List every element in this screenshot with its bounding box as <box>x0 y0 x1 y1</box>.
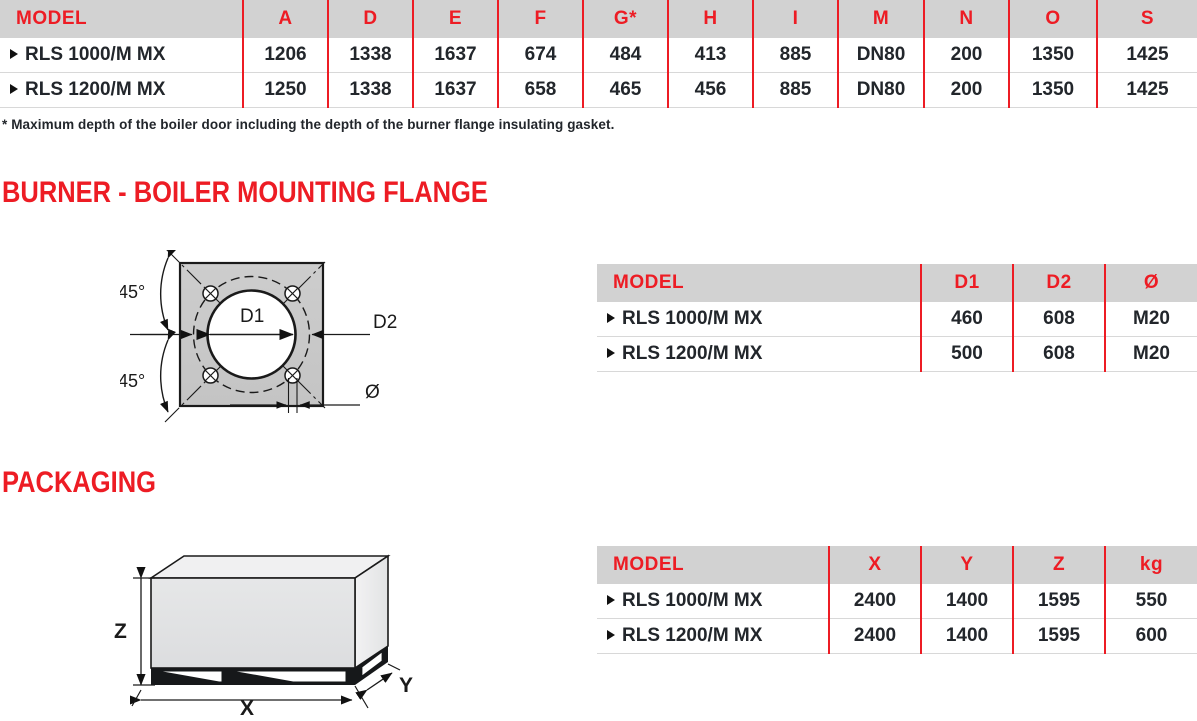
label-y: Y <box>399 674 413 697</box>
cell-diameter: M20 <box>1105 302 1197 337</box>
label-angle-bottom: 45° <box>120 371 145 391</box>
bullet-arrow-icon <box>10 49 18 59</box>
column-header-d2: D2 <box>1013 264 1105 302</box>
table-header-row: MODEL D1 D2 Ø <box>597 264 1197 302</box>
cell-kg: 600 <box>1105 619 1197 654</box>
table-row: RLS 1200/M MX 2400 1400 1595 600 <box>597 619 1197 654</box>
label-x: X <box>240 697 254 715</box>
cell-f: 674 <box>498 38 583 73</box>
cell-g: 465 <box>583 73 668 108</box>
cell-d1: 460 <box>921 302 1013 337</box>
column-header-o: O <box>1009 0 1097 38</box>
table-header-row: MODEL X Y Z kg <box>597 546 1197 584</box>
label-hole-diameter: Ø <box>365 382 380 403</box>
model-label: RLS 1200/M MX <box>622 625 762 646</box>
model-label: RLS 1000/M MX <box>25 44 165 65</box>
label-d2: D2 <box>373 312 397 333</box>
cell-x: 2400 <box>829 584 921 619</box>
cell-y: 1400 <box>921 619 1013 654</box>
table-row: RLS 1000/M MX 460 608 M20 <box>597 302 1197 337</box>
table-row: RLS 1000/M MX 2400 1400 1595 550 <box>597 584 1197 619</box>
column-header-s: S <box>1097 0 1197 38</box>
table-row: RLS 1200/M MX 1250 1338 1637 658 465 456… <box>0 73 1197 108</box>
bullet-arrow-icon <box>10 84 18 94</box>
column-header-i: I <box>753 0 838 38</box>
cell-n: 200 <box>924 38 1009 73</box>
cell-z: 1595 <box>1013 584 1105 619</box>
label-d1: D1 <box>240 306 264 327</box>
bullet-arrow-icon <box>607 630 615 640</box>
table-row: RLS 1000/M MX 1206 1338 1637 674 484 413… <box>0 38 1197 73</box>
footnote-text: * Maximum depth of the boiler door inclu… <box>2 117 614 132</box>
column-header-g: G* <box>583 0 668 38</box>
cell-x: 2400 <box>829 619 921 654</box>
dimensions-table: MODEL A D E F G* H I M N O S RLS 1000/M … <box>0 0 1197 108</box>
cell-i: 885 <box>753 38 838 73</box>
cell-d: 1338 <box>328 73 413 108</box>
section-heading-packaging: PACKAGING <box>2 466 156 500</box>
cell-kg: 550 <box>1105 584 1197 619</box>
column-header-h: H <box>668 0 753 38</box>
column-header-d1: D1 <box>921 264 1013 302</box>
cell-h: 413 <box>668 38 753 73</box>
label-angle-top: 45° <box>120 282 145 302</box>
cell-o: 1350 <box>1009 73 1097 108</box>
cell-z: 1595 <box>1013 619 1105 654</box>
cell-diameter: M20 <box>1105 337 1197 372</box>
bullet-arrow-icon <box>607 313 615 323</box>
cell-o: 1350 <box>1009 38 1097 73</box>
column-header-model: MODEL <box>597 264 921 302</box>
row-model-name: RLS 1200/M MX <box>0 73 243 108</box>
row-model-name: RLS 1000/M MX <box>597 584 829 619</box>
cell-m: DN80 <box>838 38 924 73</box>
model-label: RLS 1000/M MX <box>622 590 762 611</box>
table-row: RLS 1200/M MX 500 608 M20 <box>597 337 1197 372</box>
column-header-diameter: Ø <box>1105 264 1197 302</box>
table-header-row: MODEL A D E F G* H I M N O S <box>0 0 1197 38</box>
column-header-kg: kg <box>1105 546 1197 584</box>
cell-s: 1425 <box>1097 38 1197 73</box>
bullet-arrow-icon <box>607 348 615 358</box>
column-header-y: Y <box>921 546 1013 584</box>
cell-a: 1206 <box>243 38 328 73</box>
row-model-name: RLS 1200/M MX <box>597 337 921 372</box>
bullet-arrow-icon <box>607 595 615 605</box>
cell-y: 1400 <box>921 584 1013 619</box>
cell-m: DN80 <box>838 73 924 108</box>
packaging-diagram: Z X Y <box>100 540 480 720</box>
row-model-name: RLS 1000/M MX <box>597 302 921 337</box>
column-header-model: MODEL <box>0 0 243 38</box>
section-heading-flange: BURNER - BOILER MOUNTING FLANGE <box>2 176 488 210</box>
column-header-z: Z <box>1013 546 1105 584</box>
cell-e: 1637 <box>413 38 498 73</box>
cell-d: 1338 <box>328 38 413 73</box>
cell-f: 658 <box>498 73 583 108</box>
flange-table: MODEL D1 D2 Ø RLS 1000/M MX 460 608 M20 … <box>597 264 1197 372</box>
model-label: RLS 1200/M MX <box>25 79 165 100</box>
cell-d1: 500 <box>921 337 1013 372</box>
column-header-e: E <box>413 0 498 38</box>
column-header-m: M <box>838 0 924 38</box>
column-header-d: D <box>328 0 413 38</box>
flange-diagram: D1 D2 Ø 45° 45° <box>120 250 540 455</box>
packaging-table: MODEL X Y Z kg RLS 1000/M MX 2400 1400 1… <box>597 546 1197 654</box>
row-model-name: RLS 1000/M MX <box>0 38 243 73</box>
row-model-name: RLS 1200/M MX <box>597 619 829 654</box>
column-header-model: MODEL <box>597 546 829 584</box>
cell-s: 1425 <box>1097 73 1197 108</box>
cell-a: 1250 <box>243 73 328 108</box>
column-header-f: F <box>498 0 583 38</box>
cell-g: 484 <box>583 38 668 73</box>
model-label: RLS 1200/M MX <box>622 343 762 364</box>
cell-d2: 608 <box>1013 337 1105 372</box>
model-label: RLS 1000/M MX <box>622 308 762 329</box>
cell-d2: 608 <box>1013 302 1105 337</box>
label-z: Z <box>114 620 127 643</box>
cell-n: 200 <box>924 73 1009 108</box>
cell-i: 885 <box>753 73 838 108</box>
column-header-x: X <box>829 546 921 584</box>
cell-e: 1637 <box>413 73 498 108</box>
column-header-a: A <box>243 0 328 38</box>
cell-h: 456 <box>668 73 753 108</box>
column-header-n: N <box>924 0 1009 38</box>
